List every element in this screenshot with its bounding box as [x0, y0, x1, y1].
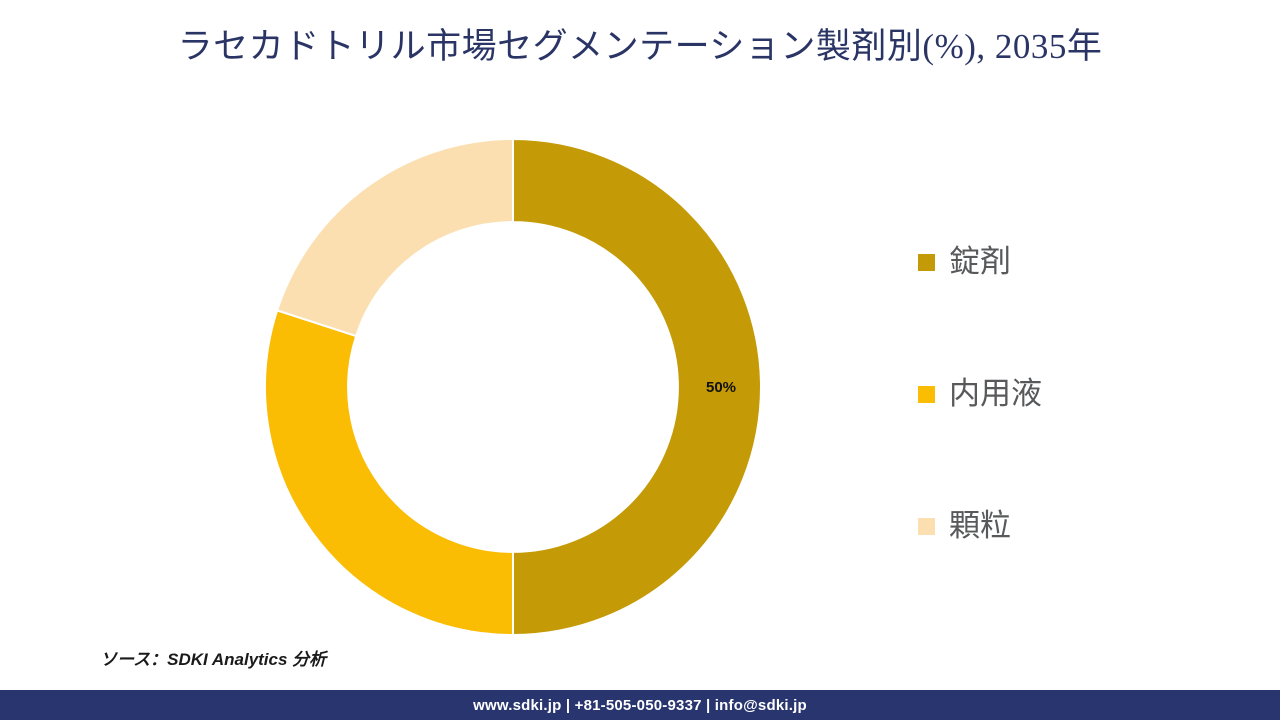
legend-label-oral-solution: 内用液 [949, 377, 1042, 411]
legend-item-tablets[interactable]: 錠剤 [918, 196, 1218, 328]
slice-data-label-tablets: 50% [706, 379, 736, 396]
chart-legend: 錠剤 内用液 顆粒 [918, 196, 1218, 592]
donut-chart: 50% [265, 139, 761, 635]
legend-swatch-icon-oral-solution [918, 386, 935, 403]
legend-item-granules[interactable]: 顆粒 [918, 460, 1218, 592]
donut-slice-granules[interactable] [277, 139, 513, 336]
source-note: ソース：SDKI Analytics 分析 [100, 645, 326, 670]
legend-swatch-icon-tablets [918, 254, 935, 271]
legend-swatch-icon-granules [918, 518, 935, 535]
donut-slices [265, 139, 761, 635]
legend-label-granules: 顆粒 [949, 509, 1011, 543]
donut-chart-svg: 50% [265, 139, 761, 635]
legend-item-oral-solution[interactable]: 内用液 [918, 328, 1218, 460]
footer-contact-text: www.sdki.jp | +81-505-050-9337 | info@sd… [473, 697, 807, 714]
footer-bar: www.sdki.jp | +81-505-050-9337 | info@sd… [0, 690, 1280, 720]
legend-label-tablets: 錠剤 [949, 245, 1011, 279]
page-title: ラセカドトリル市場セグメンテーション製剤別(%), 2035年 [0, 24, 1280, 70]
chart-page: ラセカドトリル市場セグメンテーション製剤別(%), 2035年 50% 錠剤 内… [0, 0, 1280, 720]
donut-slice-oral-solution[interactable] [265, 310, 513, 635]
